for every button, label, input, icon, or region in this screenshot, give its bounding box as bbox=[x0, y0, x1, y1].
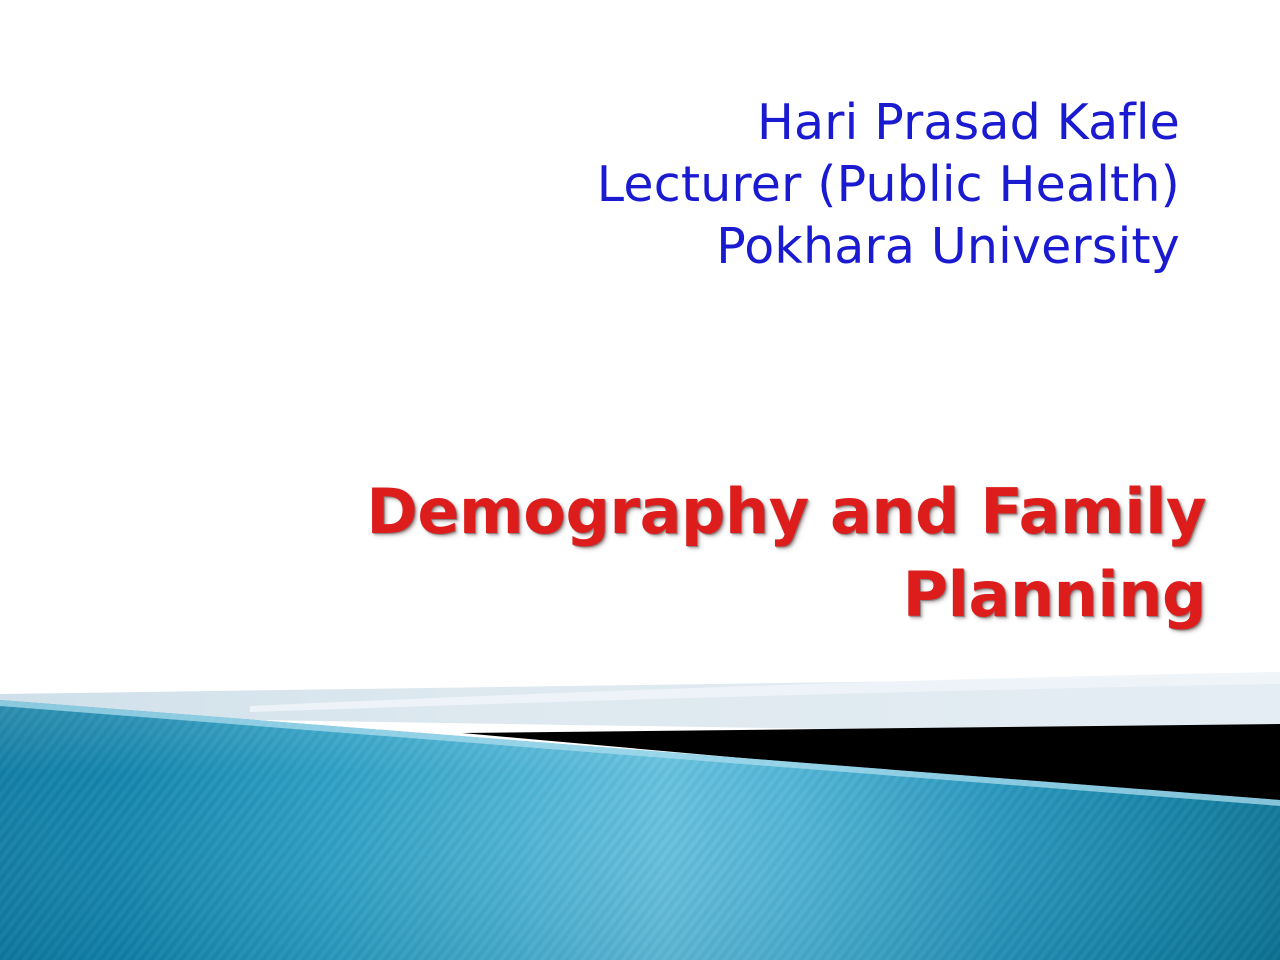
teal-banner bbox=[0, 700, 1280, 960]
pale-blue-band-highlight bbox=[250, 672, 1280, 712]
subtitle-line-author: Hari Prasad Kafle bbox=[250, 92, 1180, 154]
teal-texture bbox=[0, 690, 1280, 960]
black-wedge bbox=[462, 724, 1280, 806]
pale-blue-band bbox=[0, 676, 1280, 736]
slide-title-block: Demography and Family Planning bbox=[180, 470, 1206, 636]
subtitle-text-block: Hari Prasad Kafle Lecturer (Public Healt… bbox=[250, 92, 1180, 278]
subtitle-line-role: Lecturer (Public Health) bbox=[250, 154, 1180, 216]
teal-shade bbox=[0, 690, 1280, 960]
slide-title-line-1: Demography and Family bbox=[180, 470, 1206, 553]
presentation-slide: Hari Prasad Kafle Lecturer (Public Healt… bbox=[0, 0, 1280, 960]
subtitle-line-institution: Pokhara University bbox=[250, 216, 1180, 278]
teal-top-highlight bbox=[0, 700, 1280, 806]
slide-title-line-2: Planning bbox=[180, 553, 1206, 636]
